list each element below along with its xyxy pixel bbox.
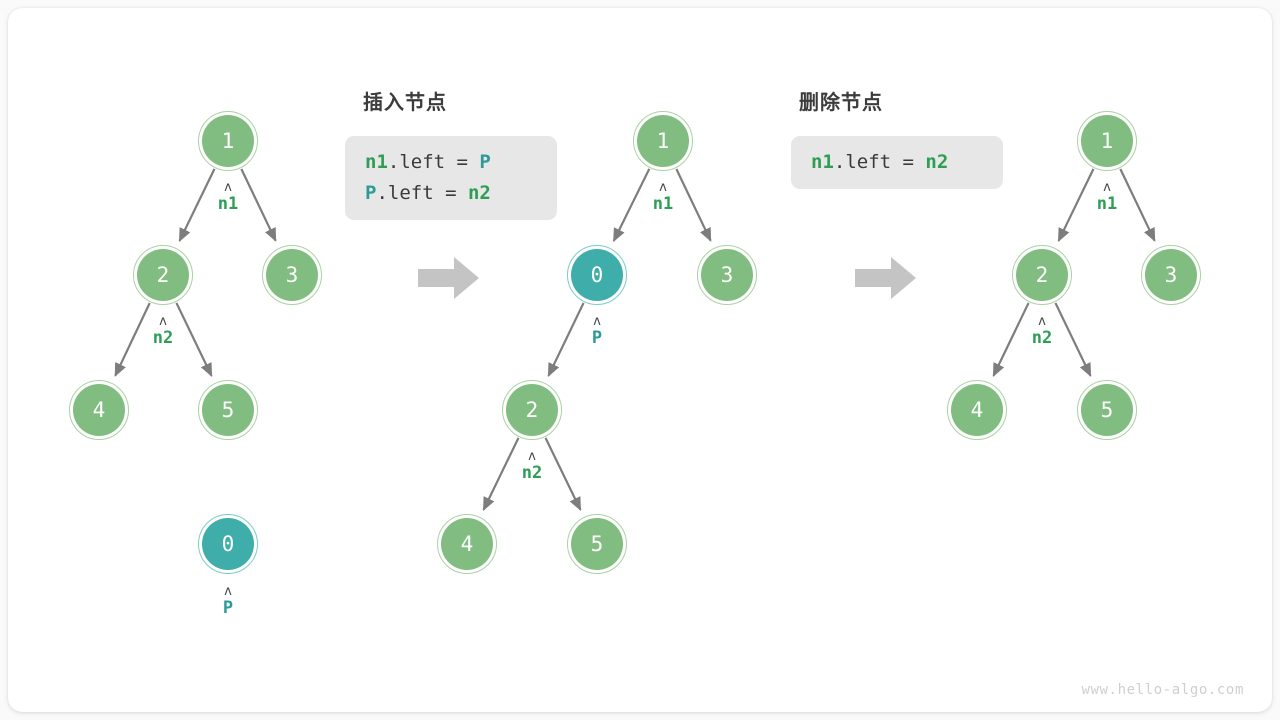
tree-node: 5 — [198, 380, 258, 440]
caret-icon: ʌ — [592, 315, 602, 329]
panel-title: 删除节点 — [799, 86, 883, 115]
tree-node: 1 — [1077, 111, 1137, 171]
tree-node-value: 4 — [73, 384, 125, 436]
tree-node: 3 — [262, 245, 322, 305]
tree-node-value: 4 — [441, 518, 493, 570]
pointer-label: ʌn1 — [653, 181, 673, 214]
tree-node-value: 3 — [701, 249, 753, 301]
tree-node: 3 — [1141, 245, 1201, 305]
diagram-stage: 插入节点删除节点 n1.left = P P.left = n2 n1.left… — [8, 8, 1272, 712]
tree-node-value: 5 — [202, 384, 254, 436]
tree-node: 4 — [69, 380, 129, 440]
pointer-name: n2 — [153, 329, 173, 348]
pointer-name: P — [592, 329, 602, 348]
tree-node: 4 — [437, 514, 497, 574]
pointer-label: ʌn1 — [218, 181, 238, 214]
caret-icon: ʌ — [153, 315, 173, 329]
code-token: P — [479, 151, 490, 173]
transition-arrow-icon — [418, 255, 480, 301]
caret-icon: ʌ — [653, 181, 673, 195]
tree-node: 2 — [1012, 245, 1072, 305]
tree-node-value: 0 — [202, 518, 254, 570]
tree-node-value: 5 — [571, 518, 623, 570]
tree-node-value: 5 — [1081, 384, 1133, 436]
tree-node: 3 — [697, 245, 757, 305]
tree-node: 2 — [133, 245, 193, 305]
tree-node-value: 4 — [951, 384, 1003, 436]
tree-node-value: 2 — [506, 384, 558, 436]
pointer-name: n1 — [1097, 195, 1117, 214]
panel-title: 插入节点 — [363, 86, 447, 115]
code-token: .left = — [834, 151, 926, 173]
caret-icon: ʌ — [218, 181, 238, 195]
pointer-label: ʌn2 — [1032, 315, 1052, 348]
tree-edge — [1120, 169, 1154, 241]
diagram-card: 插入节点删除节点 n1.left = P P.left = n2 n1.left… — [8, 8, 1272, 712]
code-token: n2 — [925, 151, 948, 173]
caret-icon: ʌ — [223, 585, 233, 599]
tree-edge — [546, 438, 581, 510]
tree-node-value: 2 — [1016, 249, 1068, 301]
tree-edges-layer — [8, 8, 1272, 712]
tree-edge — [1055, 303, 1090, 376]
tree-edge — [614, 169, 650, 241]
tree-edge — [484, 438, 519, 510]
pointer-name: n2 — [1032, 329, 1052, 348]
tree-node: 1 — [198, 111, 258, 171]
code-token: n1 — [811, 151, 834, 173]
tree-edge — [548, 303, 583, 376]
code-chip-insert: n1.left = P P.left = n2 — [345, 136, 557, 220]
code-token: .left = — [376, 182, 468, 204]
code-token: .left = — [388, 151, 480, 173]
caret-icon: ʌ — [522, 450, 542, 464]
tree-node-value: 1 — [637, 115, 689, 167]
tree-node-value: 3 — [266, 249, 318, 301]
tree-node: 4 — [947, 380, 1007, 440]
pointer-name: n1 — [653, 195, 673, 214]
tree-node-value: 1 — [1081, 115, 1133, 167]
pointer-name: n1 — [218, 195, 238, 214]
caret-icon: ʌ — [1097, 181, 1117, 195]
pointer-label: ʌP — [223, 585, 233, 618]
pointer-label: ʌP — [592, 315, 602, 348]
pointer-name: n2 — [522, 464, 542, 483]
pointer-label: ʌn1 — [1097, 181, 1117, 214]
tree-node: 0 — [567, 245, 627, 305]
pointer-label: ʌn2 — [153, 315, 173, 348]
watermark: www.hello-algo.com — [1081, 682, 1244, 698]
tree-edge — [1059, 169, 1094, 241]
caret-icon: ʌ — [1032, 315, 1052, 329]
tree-edge — [993, 303, 1028, 376]
tree-node: 5 — [1077, 380, 1137, 440]
tree-node: 5 — [567, 514, 627, 574]
tree-edge — [176, 303, 211, 376]
tree-edge — [241, 169, 275, 241]
tree-node-value: 0 — [571, 249, 623, 301]
tree-node: 1 — [633, 111, 693, 171]
tree-edge — [676, 169, 710, 241]
code-token: n2 — [468, 182, 491, 204]
tree-node: 2 — [502, 380, 562, 440]
tree-node: 0 — [198, 514, 258, 574]
tree-edge — [115, 303, 149, 376]
pointer-name: P — [223, 599, 233, 618]
tree-edge — [180, 169, 215, 241]
code-chip-delete: n1.left = n2 — [791, 136, 1003, 189]
tree-node-value: 1 — [202, 115, 254, 167]
transition-arrow-icon — [855, 255, 917, 301]
code-token: n1 — [365, 151, 388, 173]
code-token: P — [365, 182, 376, 204]
pointer-label: ʌn2 — [522, 450, 542, 483]
tree-node-value: 2 — [137, 249, 189, 301]
tree-node-value: 3 — [1145, 249, 1197, 301]
